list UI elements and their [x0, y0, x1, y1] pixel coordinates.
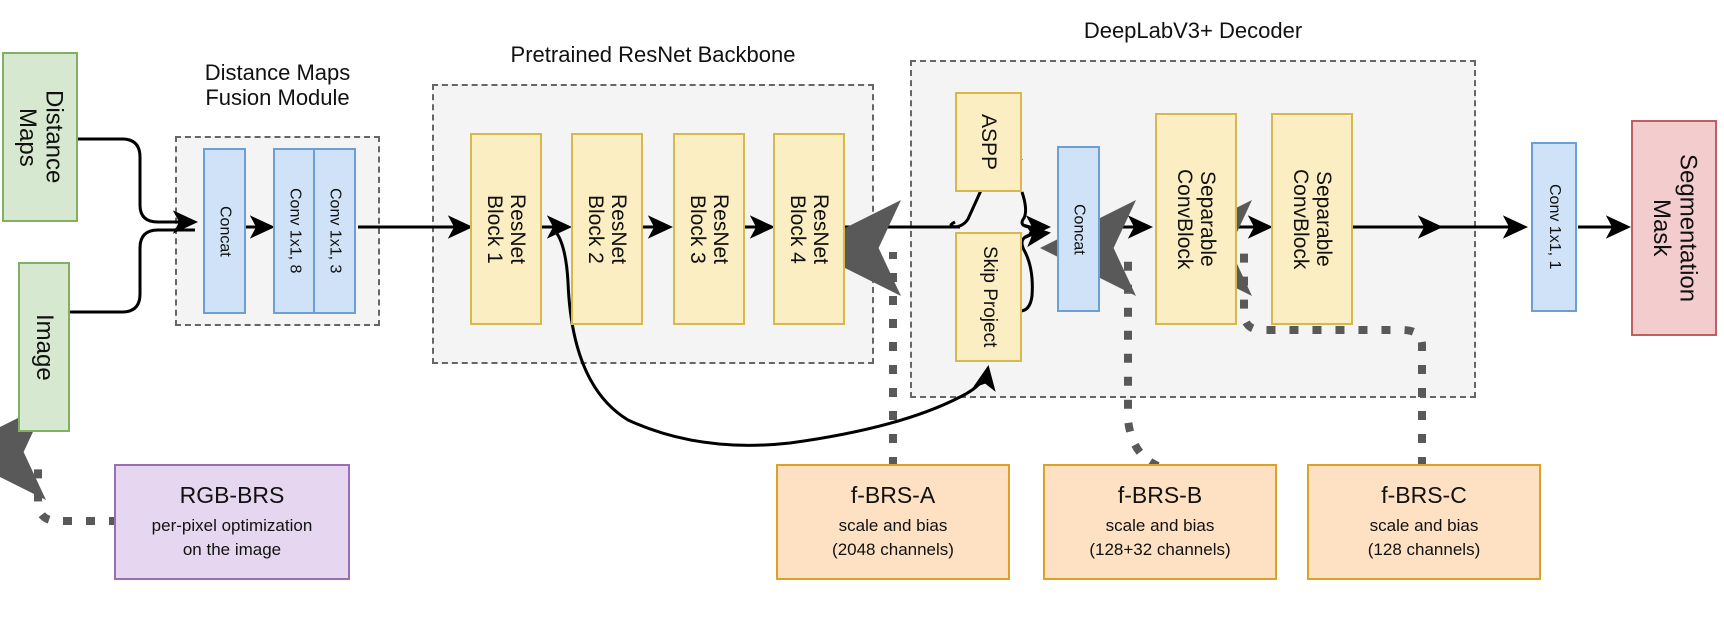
node-resnet-block-1[interactable]: ResNet Block 1 — [470, 133, 542, 325]
node-f-brs-a[interactable]: f-BRS-A scale and bias (2048 channels) — [776, 464, 1010, 580]
node-f-brs-c-title: f-BRS-C — [1381, 481, 1467, 510]
node-skip-project-label: Skip Project — [978, 246, 999, 347]
node-concat-fusion-label: Concat — [216, 206, 234, 257]
node-sep-convblock-2-label: Separable ConvBlock — [1289, 169, 1335, 269]
node-aspp-label: ASPP — [977, 114, 1000, 170]
node-f-brs-a-line1: scale and bias — [839, 514, 948, 539]
edge-fbrs-b-injection — [1128, 252, 1158, 466]
node-concat-decoder[interactable]: Concat — [1057, 146, 1100, 312]
node-segmentation-mask-label: Segmentation Mask — [1648, 154, 1701, 302]
node-f-brs-c-line1: scale and bias — [1370, 514, 1479, 539]
node-sep-convblock-2[interactable]: Separable ConvBlock — [1271, 113, 1353, 325]
node-resnet-block-3-label: ResNet Block 3 — [686, 194, 732, 264]
node-resnet-block-2-label: ResNet Block 2 — [584, 194, 630, 264]
node-f-brs-a-title: f-BRS-A — [851, 481, 935, 510]
node-conv1x1-1-label: Conv 1x1, 1 — [1545, 184, 1563, 269]
node-segmentation-mask[interactable]: Segmentation Mask — [1631, 120, 1717, 336]
node-conv1x1-3[interactable]: Conv 1x1, 3 — [313, 148, 356, 314]
edge-skip-project-to-concat — [1020, 233, 1048, 311]
edge-aspp-to-concat — [1022, 192, 1048, 227]
edge-distance-maps-to-concat — [78, 139, 195, 222]
node-rgb-brs-title: RGB-BRS — [180, 481, 285, 510]
node-resnet-block-3[interactable]: ResNet Block 3 — [673, 133, 745, 325]
node-resnet-block-4[interactable]: ResNet Block 4 — [773, 133, 845, 325]
node-f-brs-b[interactable]: f-BRS-B scale and bias (128+32 channels) — [1043, 464, 1277, 580]
node-sep-convblock-1-label: Separable ConvBlock — [1173, 169, 1219, 269]
edge-rgb-brs-injection — [38, 456, 118, 521]
node-f-brs-c[interactable]: f-BRS-C scale and bias (128 channels) — [1307, 464, 1541, 580]
node-conv1x1-8-label: Conv 1x1, 8 — [286, 188, 304, 273]
group-title-backbone: Pretrained ResNet Backbone — [432, 42, 874, 67]
node-distance-maps[interactable]: Distance Maps — [2, 52, 78, 222]
node-f-brs-a-line2: (2048 channels) — [832, 538, 954, 563]
node-concat-decoder-label: Concat — [1070, 204, 1088, 255]
node-resnet-block-4-label: ResNet Block 4 — [786, 194, 832, 264]
node-rgb-brs[interactable]: RGB-BRS per-pixel optimization on the im… — [114, 464, 350, 580]
node-skip-project[interactable]: Skip Project — [955, 232, 1022, 362]
node-rgb-brs-line1: per-pixel optimization — [152, 514, 313, 539]
node-image[interactable]: Image — [18, 262, 70, 432]
node-f-brs-b-line2: (128+32 channels) — [1089, 538, 1230, 563]
node-conv1x1-8[interactable]: Conv 1x1, 8 — [273, 148, 316, 314]
node-f-brs-c-line2: (128 channels) — [1368, 538, 1480, 563]
group-title-decoder: DeepLabV3+ Decoder — [910, 18, 1476, 43]
node-rgb-brs-line2: on the image — [183, 538, 281, 563]
node-image-label: Image — [31, 314, 57, 381]
node-conv1x1-3-label: Conv 1x1, 3 — [326, 188, 344, 273]
node-resnet-block-1-label: ResNet Block 1 — [483, 194, 529, 264]
diagram-canvas: Distance Maps Fusion Module Pretrained R… — [0, 0, 1724, 641]
node-conv1x1-1[interactable]: Conv 1x1, 1 — [1531, 142, 1577, 312]
node-sep-convblock-1[interactable]: Separable ConvBlock — [1155, 113, 1237, 325]
node-distance-maps-label: Distance Maps — [14, 90, 67, 183]
edge-image-to-concat — [70, 230, 195, 312]
node-f-brs-b-line1: scale and bias — [1106, 514, 1215, 539]
node-concat-fusion[interactable]: Concat — [203, 148, 246, 314]
node-aspp[interactable]: ASPP — [955, 92, 1022, 192]
group-title-fusion: Distance Maps Fusion Module — [175, 60, 380, 111]
node-resnet-block-2[interactable]: ResNet Block 2 — [571, 133, 643, 325]
node-f-brs-b-title: f-BRS-B — [1118, 481, 1202, 510]
